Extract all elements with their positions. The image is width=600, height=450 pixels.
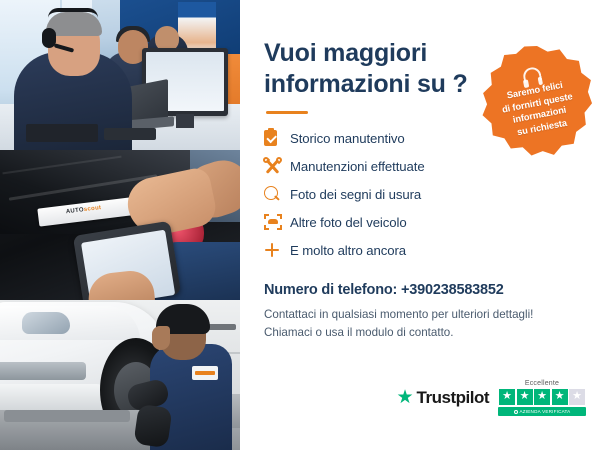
verified-label: AZIENDA VERIFICATA [520,409,571,414]
star-glyph: ★ [520,391,530,402]
clipboard-check-icon [264,130,290,146]
headset-icon [522,66,542,83]
trustpilot-logo[interactable]: ★ Trustpilot [397,388,490,408]
title-underline-rule [266,111,308,114]
tools-cross-icon [264,158,290,175]
photo-wheel-inspection [0,300,240,450]
rating-caption: Eccellente [525,380,559,387]
star-2: ★ [517,389,533,405]
star-4: ★ [552,389,568,405]
feature-label: Manutenzioni effettuate [290,159,425,174]
mechanic-face [152,326,170,350]
contact-copy: Contattaci in qualsiasi momento per ulte… [264,306,578,341]
star-1: ★ [499,389,515,405]
car-hood [0,306,140,340]
lift-pad [4,410,130,422]
trustpilot-star-icon: ★ [397,388,414,407]
phone-label: Numero di telefono: [264,282,397,298]
contact-copy-line-2: Chiamaci o usa il modulo di contatto. [264,326,453,339]
photo-call-center [0,0,240,150]
mechanic-glove-lower [133,404,172,448]
list-item: Altre foto del veicolo [264,208,578,236]
star-glyph: ★ [555,391,565,402]
list-item: E molto altro ancora [264,236,578,264]
rating-stars: ★ ★ ★ ★ ★ [499,389,585,405]
sticker-text-accent: scout [84,205,102,213]
sticker-text-dark: AUTO [66,207,85,215]
star-glyph: ★ [502,391,512,402]
photo-inspection-sticker: AUTOscout [0,150,240,300]
trustpilot-brand-name: Trustpilot [417,388,489,408]
feature-label: Altre foto del veicolo [290,215,407,230]
agent-headset-band [48,8,98,18]
car-bumper [0,384,110,410]
verified-check-icon [514,410,518,414]
trustpilot-rating: Eccellente ★ ★ ★ ★ ★ AZIENDA VERIFICATA [498,380,586,417]
plus-icon [264,242,290,258]
feature-label: Storico manutentivo [290,131,405,146]
star-5: ★ [569,389,585,405]
callout-badge: Saremo felici di fornirti queste informa… [482,46,592,156]
phone-number[interactable]: +390238583852 [401,282,504,298]
uniform-logo-patch [192,366,218,380]
promo-card: AUTOscout [0,0,600,450]
keyboard [26,124,98,142]
trustpilot-block[interactable]: ★ Trustpilot Eccellente ★ ★ ★ ★ ★ AZIEND… [397,380,587,417]
headline-line-2: informazioni su ? [264,70,468,98]
star-3: ★ [534,389,550,405]
star-glyph: ★ [572,391,582,402]
list-item: Manutenzioni effettuate [264,152,578,180]
car-headlamp [22,312,70,334]
car-grille [0,362,86,380]
star-glyph: ★ [537,391,547,402]
feature-label: E molto altro ancora [290,243,406,258]
contact-copy-line-1: Contattaci in qualsiasi momento per ulte… [264,308,533,321]
photo-strip: AUTOscout [0,0,240,450]
list-item: Foto dei segni di usura [264,180,578,208]
page-title: Vuoi maggiori informazioni su ? [264,38,484,99]
verified-badge: AZIENDA VERIFICATA [498,407,586,416]
monitor-stand [176,114,194,128]
headline-line-1: Vuoi maggiori [264,39,427,67]
sticker-label: AUTOscout [66,205,102,215]
content-panel: Vuoi maggiori informazioni su ? Storico … [240,0,600,450]
feature-label: Foto dei segni di usura [290,187,421,202]
phone-line: Numero di telefono: +390238583852 [264,282,578,298]
magnifier-icon [264,186,290,202]
car-frame-icon [264,214,290,230]
badge-content: Saremo felici di fornirti queste informa… [495,61,578,141]
keyboard-2 [104,128,156,140]
